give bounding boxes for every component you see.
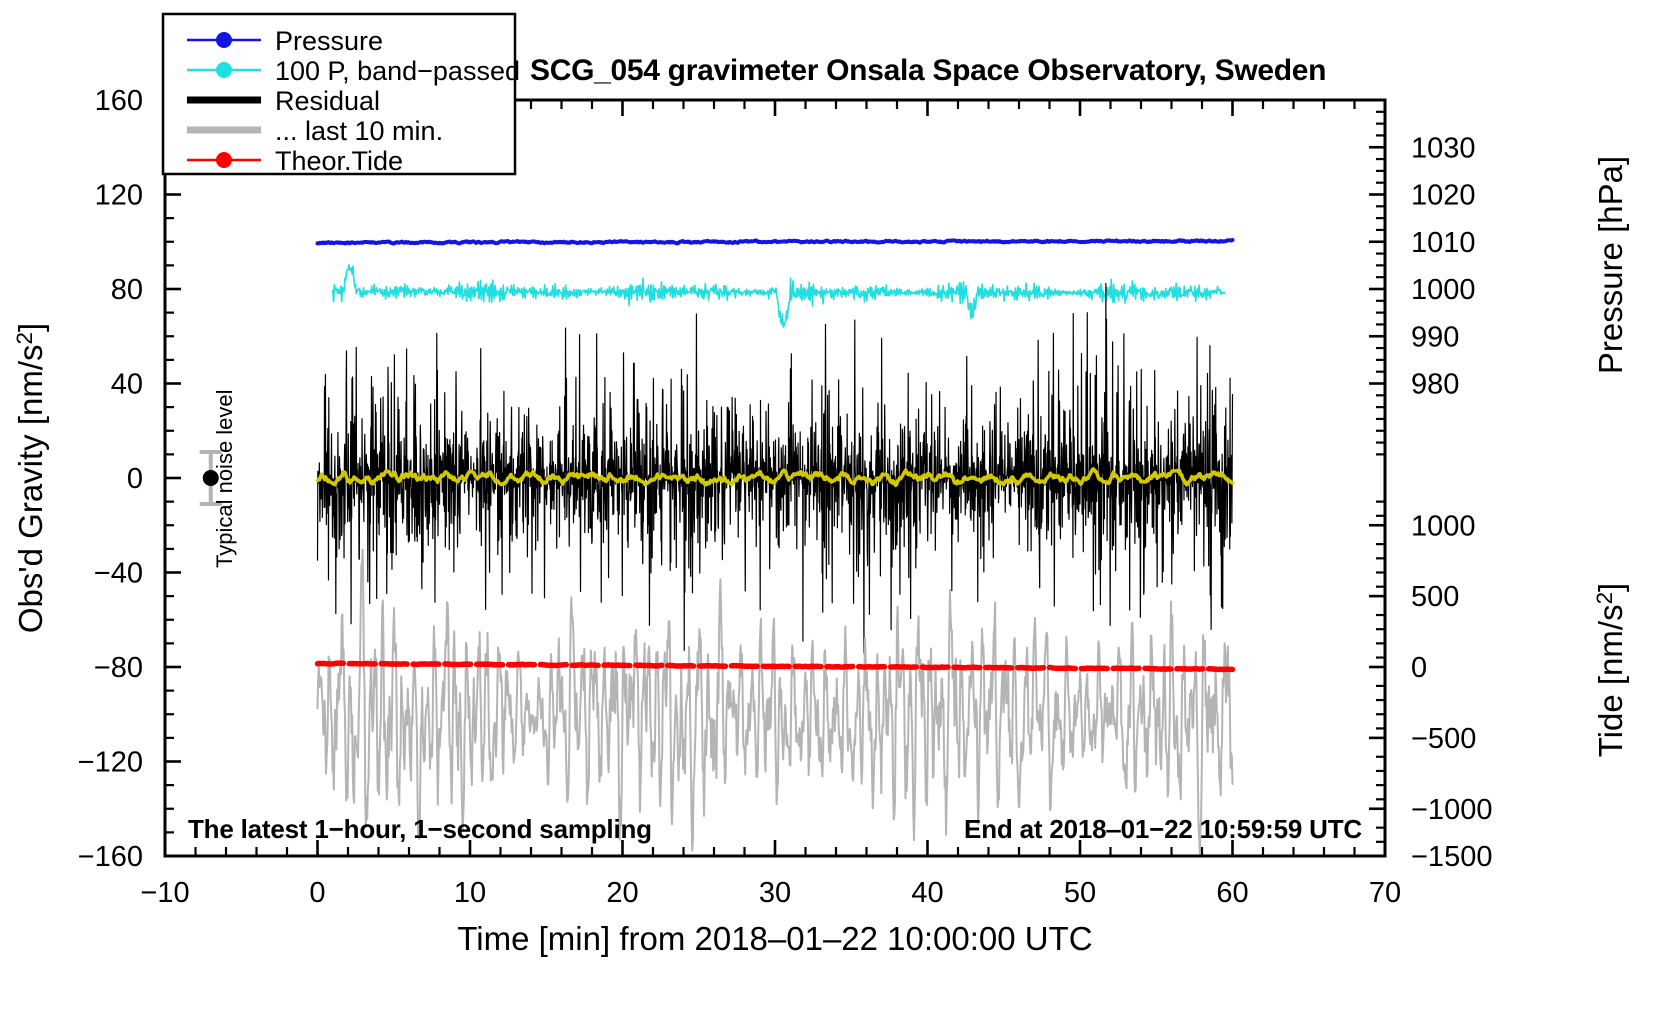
y-tick-label: −160 (78, 841, 143, 873)
tide-tick-label: −1500 (1411, 841, 1492, 873)
y-tick-label: 80 (111, 274, 143, 306)
y-axis-label-main: Obs'd Gravity [nm/s (12, 344, 49, 633)
legend-label: 100 P, band−passed (275, 56, 520, 86)
y-tick-label: 160 (95, 85, 143, 117)
right-axis-tide-label-exponent: 2 (1592, 592, 1617, 604)
pressure-tick-label: 1000 (1411, 274, 1476, 306)
tide-tick-label: 500 (1411, 581, 1459, 613)
y-axis-tick-labels: 16012080400−40−80−120−160 (78, 85, 143, 873)
right-axis-tide-label: Tide [nm/s2] (1592, 583, 1629, 757)
tide-tick-label: −500 (1411, 723, 1476, 755)
chart-title: SCG_054 gravimeter Onsala Space Observat… (530, 54, 1326, 87)
legend-label: Theor.Tide (275, 146, 403, 176)
y-tick-label: 40 (111, 369, 143, 401)
legend-swatch-dot (216, 32, 232, 48)
footer-left-note: The latest 1−hour, 1−second sampling (188, 814, 652, 844)
legend-swatch-dot (216, 62, 232, 78)
pressure-tick-label: 980 (1411, 369, 1459, 401)
y-axis-label: Obs'd Gravity [nm/s2] (12, 323, 49, 633)
pressure-tick-label: 1010 (1411, 227, 1476, 259)
legend-swatch-dot (216, 152, 232, 168)
y-tick-label: −80 (94, 652, 143, 684)
series-last-10-min (318, 550, 1233, 854)
x-tick-label: 30 (759, 877, 791, 909)
y-axis-label-exponent: 2 (12, 332, 37, 344)
pressure-tick-label: 990 (1411, 321, 1459, 353)
chart-canvas: −10010203040506070 16012080400−40−80−120… (0, 0, 1660, 1020)
x-tick-label: 10 (454, 877, 486, 909)
typical-noise-level-label: Typical noise level (212, 389, 237, 568)
x-tick-label: 70 (1369, 877, 1401, 909)
x-tick-label: 0 (309, 877, 325, 909)
y-tick-label: −120 (78, 747, 143, 779)
series-100-p-band-passed (333, 265, 1225, 327)
x-axis-label: Time [min] from 2018‒01‒22 10:00:00 UTC (457, 920, 1092, 957)
legend-label: Residual (275, 86, 380, 116)
y-tick-label: 0 (127, 463, 143, 495)
x-tick-label: −10 (140, 877, 189, 909)
x-tick-label: 20 (606, 877, 638, 909)
x-tick-label: 40 (911, 877, 943, 909)
legend-label: Pressure (275, 26, 383, 56)
tide-tick-label: 0 (1411, 652, 1427, 684)
gravimeter-plot: −10010203040506070 16012080400−40−80−120… (0, 0, 1660, 1020)
tide-tick-label: 1000 (1411, 510, 1476, 542)
y-tick-label: −40 (94, 558, 143, 590)
right-axis-ticks (1369, 100, 1385, 856)
pressure-tick-label: 1020 (1411, 180, 1476, 212)
legend-label: ... last 10 min. (275, 116, 443, 146)
data-traces (318, 240, 1233, 854)
y-axis-label-bracket: ] (12, 323, 49, 332)
y-tick-label: 120 (95, 180, 143, 212)
x-tick-label: 50 (1064, 877, 1096, 909)
x-tick-label: 60 (1216, 877, 1248, 909)
footer-right-note: End at 2018‒01−22 10:59:59 UTC (964, 814, 1362, 844)
y-axis-ticks (165, 100, 181, 856)
right-axis-tide-label-main: Tide [nm/s (1592, 604, 1629, 757)
pressure-tick-label: 1030 (1411, 132, 1476, 164)
legend: Pressure100 P, band−passedResidual... la… (163, 14, 520, 176)
right-axis-pressure-label: Pressure [hPa] (1592, 156, 1629, 374)
x-axis-tick-labels: −10010203040506070 (140, 877, 1401, 909)
tide-tick-label: −1000 (1411, 794, 1492, 826)
right-axis-tick-labels: 103010201010100099098010005000−500−1000−… (1411, 132, 1492, 873)
series-pressure (318, 240, 1233, 244)
right-axis-tide-label-bracket: ] (1592, 583, 1629, 592)
